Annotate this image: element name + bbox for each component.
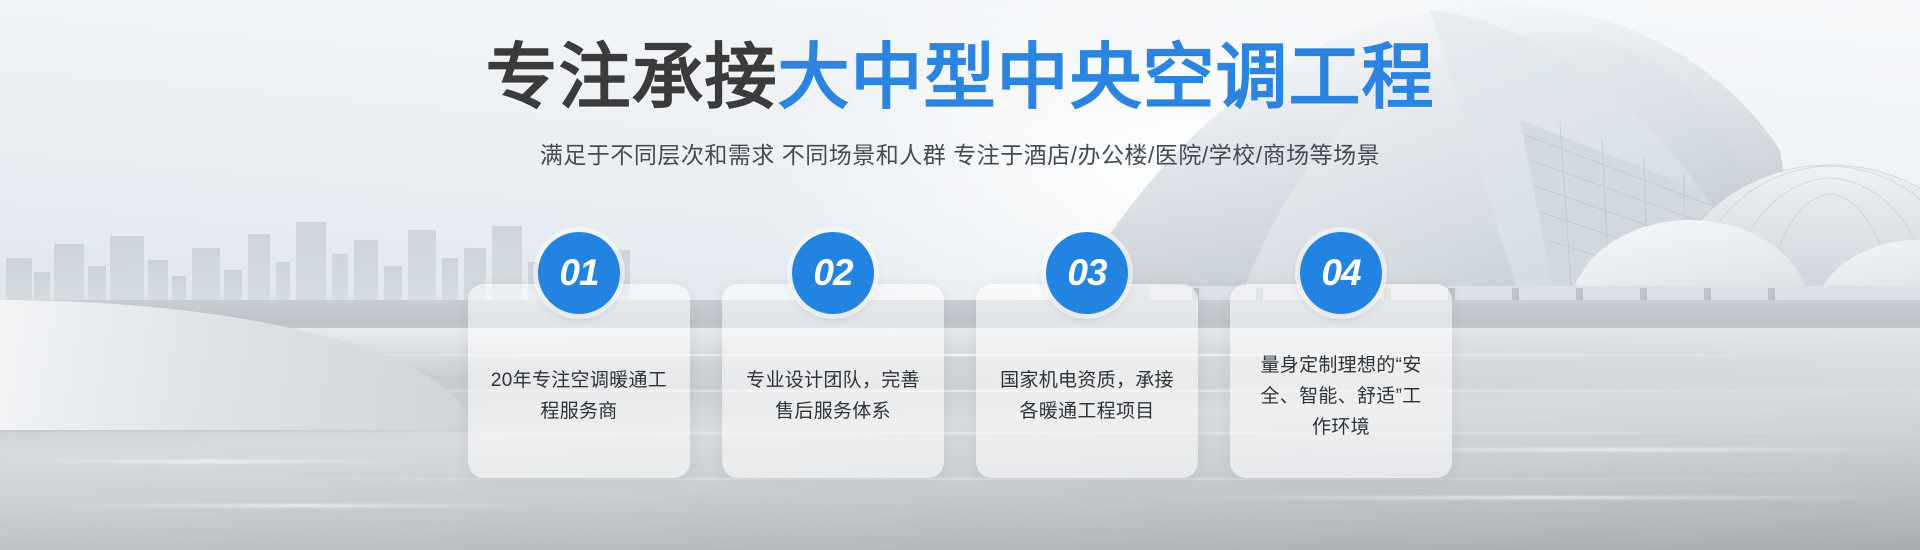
feature-card-list: 01 20年专注空调暖通工程服务商 02 专业设计团队，完善售后服务体系 03 … <box>0 222 1920 452</box>
feature-card-text: 专业设计团队，完善售后服务体系 <box>744 365 922 427</box>
hero-banner: 专注承接大中型中央空调工程 满足于不同层次和需求 不同场景和人群 专注于酒店/办… <box>0 0 1920 550</box>
feature-card[interactable]: 01 20年专注空调暖通工程服务商 <box>468 284 690 478</box>
banner-subheadline: 满足于不同层次和需求 不同场景和人群 专注于酒店/办公楼/医院/学校/商场等场景 <box>0 140 1920 170</box>
feature-number-badge: 03 <box>1046 232 1128 314</box>
headline-blue-text: 大中型中央空调工程 <box>778 38 1435 118</box>
feature-card[interactable]: 04 量身定制理想的“安全、智能、舒适”工作环境 <box>1230 284 1452 478</box>
feature-card[interactable]: 02 专业设计团队，完善售后服务体系 <box>722 284 944 478</box>
banner-headline: 专注承接大中型中央空调工程 <box>0 42 1920 114</box>
headline-dark-text: 专注承接 <box>485 38 777 118</box>
feature-card-text: 20年专注空调暖通工程服务商 <box>490 365 668 427</box>
feature-number-badge: 04 <box>1300 232 1382 314</box>
feature-number-badge: 01 <box>538 232 620 314</box>
feature-card[interactable]: 03 国家机电资质，承接各暖通工程项目 <box>976 284 1198 478</box>
feature-number-badge: 02 <box>792 232 874 314</box>
feature-card-text: 国家机电资质，承接各暖通工程项目 <box>998 365 1176 427</box>
feature-card-text: 量身定制理想的“安全、智能、舒适”工作环境 <box>1252 350 1430 443</box>
